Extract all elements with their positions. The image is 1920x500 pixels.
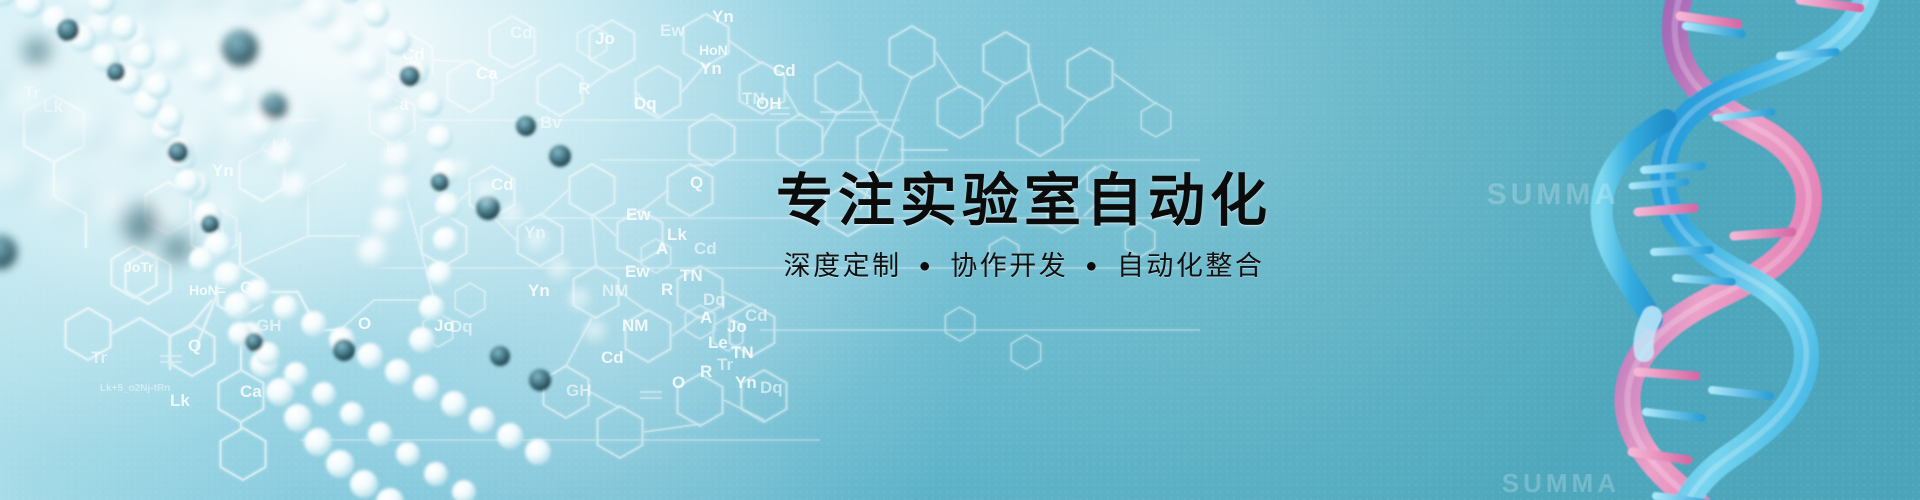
subtitle-part-3: 自动化整合	[1117, 251, 1265, 281]
hero-text-block: 专注实验室自动化 深度定制 ● 协作开发 ● 自动化整合	[744, 172, 1304, 282]
subtitle-separator-dot-2: ●	[1078, 255, 1107, 277]
hero-banner: CdJoYnEwHoNYnRDqCdTNQCaBvOHCdYnLkACdEwEw…	[0, 0, 1920, 500]
subtitle-separator-dot-1: ●	[912, 255, 941, 277]
subtitle-part-2: 协作开发	[950, 251, 1068, 281]
hero-subtitle: 深度定制 ● 协作开发 ● 自动化整合	[744, 252, 1304, 282]
page-title: 专注实验室自动化	[744, 172, 1304, 230]
subtitle-part-1: 深度定制	[784, 251, 902, 281]
